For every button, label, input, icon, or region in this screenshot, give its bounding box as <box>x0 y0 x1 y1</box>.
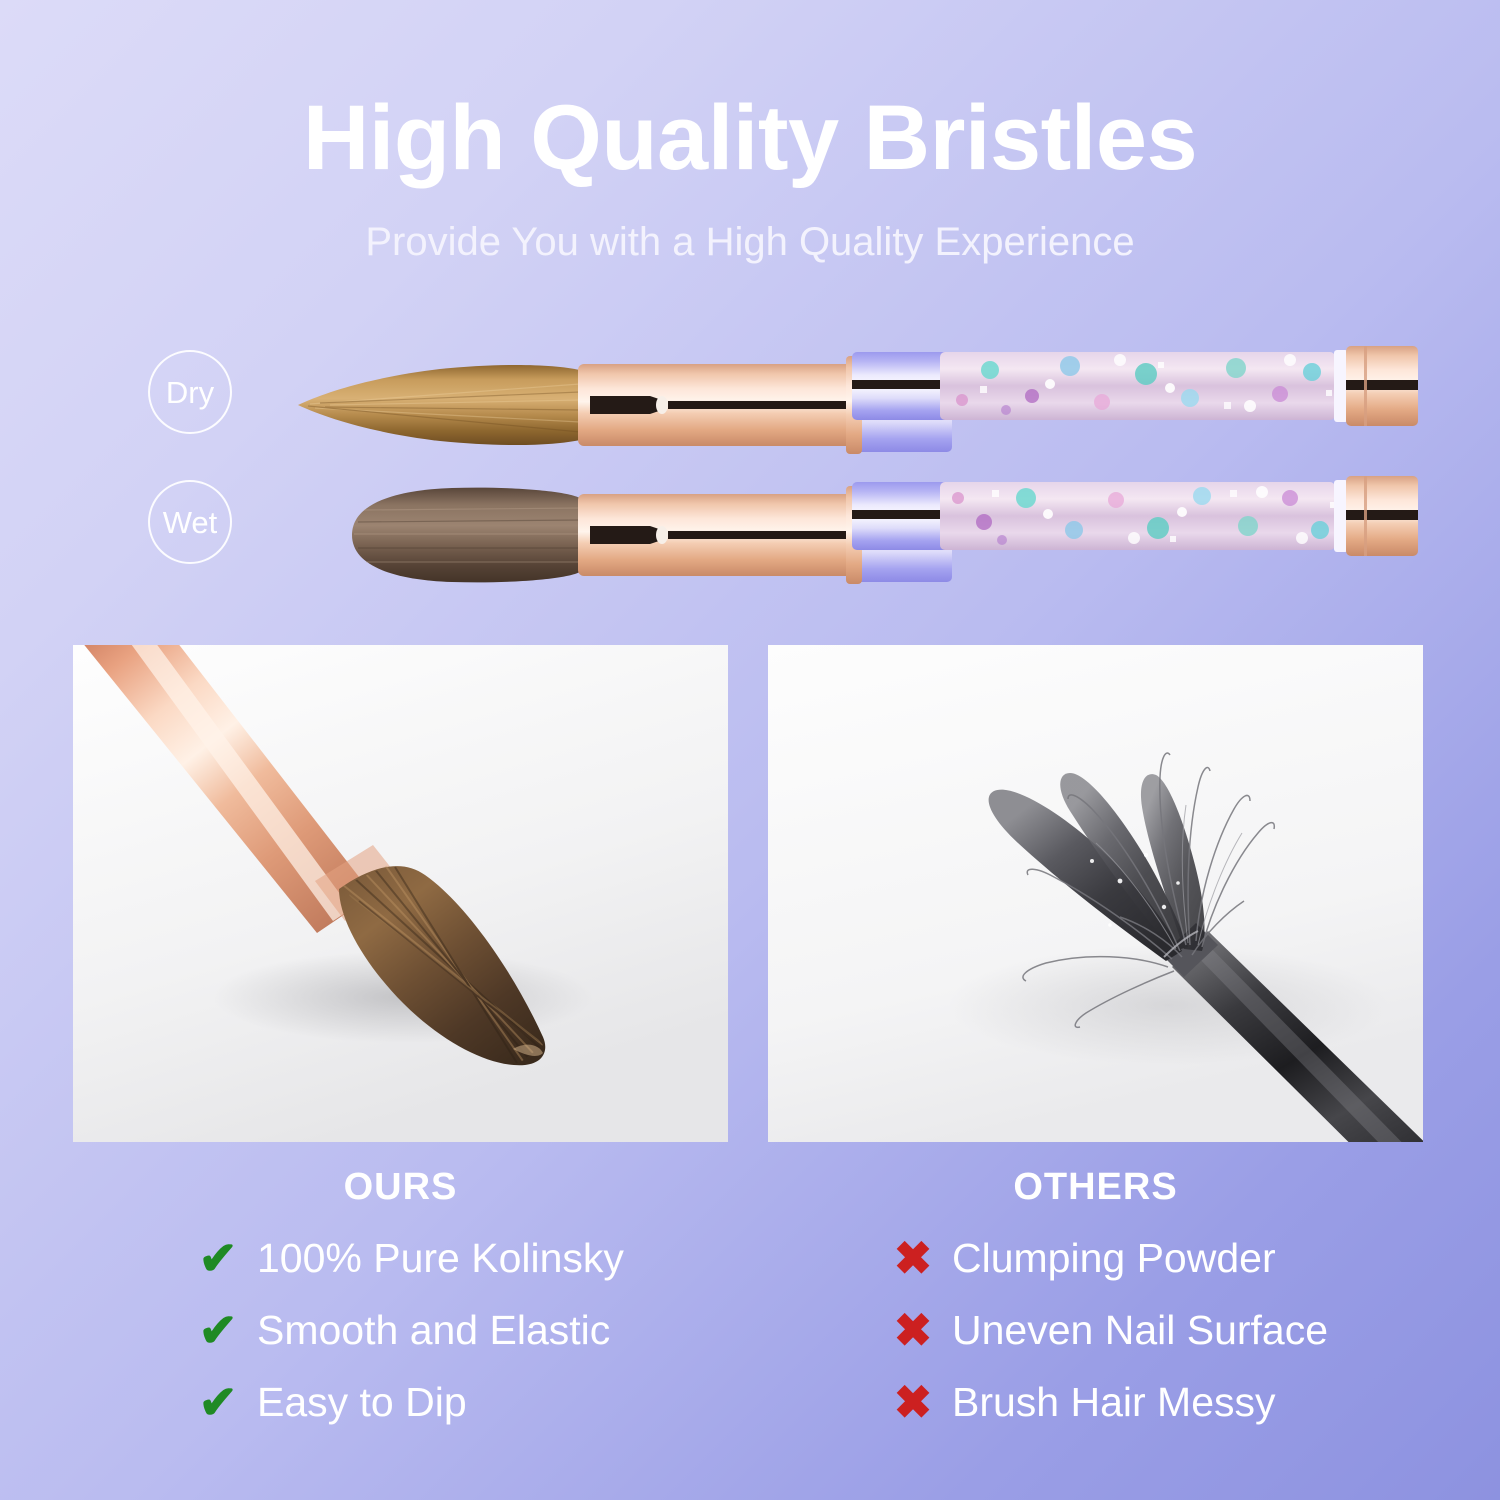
state-badge-wet: Wet <box>148 480 232 564</box>
photo-others-brush-closeup <box>768 645 1423 1142</box>
feature-label: Smooth and Elastic <box>245 1310 610 1351</box>
photo-ours-brush-closeup <box>73 645 728 1142</box>
ferrule-crimp-highlight-wet <box>656 526 668 544</box>
list-item: ✖ Uneven Nail Surface <box>768 1294 1423 1366</box>
check-icon: ✔ <box>191 1235 245 1281</box>
feature-label: Clumping Powder <box>940 1238 1276 1279</box>
ferrule-crimp-wet <box>590 526 662 544</box>
page-title: High Quality Bristles <box>0 92 1500 184</box>
bristle-tip-wet <box>352 488 582 583</box>
brush-illustration-dry: #12 <box>290 340 1420 470</box>
brush-row-dry: Dry <box>0 340 1500 470</box>
column-heading-ours: OURS <box>73 1168 728 1206</box>
header: High Quality Bristles Provide You with a… <box>0 92 1500 262</box>
feature-label: Brush Hair Messy <box>940 1382 1276 1423</box>
state-badge-wet-label: Wet <box>163 507 218 538</box>
feature-list-ours: ✔ 100% Pure Kolinsky ✔ Smooth and Elasti… <box>73 1222 728 1438</box>
glitter-barrel-dry <box>940 352 1335 420</box>
check-icon: ✔ <box>191 1379 245 1425</box>
ferrule-seam-wet <box>668 531 858 539</box>
feature-list-others: ✖ Clumping Powder ✖ Uneven Nail Surface … <box>768 1222 1423 1438</box>
endcap-ridge-dry <box>1364 346 1367 426</box>
endcap-seam-wet <box>1346 510 1418 520</box>
feature-label: 100% Pure Kolinsky <box>245 1238 624 1279</box>
endcap-seam-dry <box>1346 380 1418 390</box>
brush-illustration-wet: #12 <box>290 470 1420 600</box>
endcap-ridge-wet <box>1364 476 1367 556</box>
feature-label: Easy to Dip <box>245 1382 467 1423</box>
ferrule-seam-dry <box>668 401 858 409</box>
state-badge-dry: Dry <box>148 350 232 434</box>
endcap-gap-dry <box>1334 350 1348 422</box>
column-heading-others: OTHERS <box>768 1168 1423 1206</box>
cross-icon: ✖ <box>886 1307 940 1353</box>
list-item: ✔ 100% Pure Kolinsky <box>73 1222 728 1294</box>
product-infographic: High Quality Bristles Provide You with a… <box>0 0 1500 1500</box>
page-subtitle: Provide You with a High Quality Experien… <box>0 184 1500 262</box>
ferrule-crimp-highlight-dry <box>656 396 668 414</box>
list-item: ✖ Clumping Powder <box>768 1222 1423 1294</box>
cross-icon: ✖ <box>886 1379 940 1425</box>
brush-row-wet: Wet <box>0 470 1500 600</box>
list-item: ✔ Easy to Dip <box>73 1366 728 1438</box>
check-icon: ✔ <box>191 1307 245 1353</box>
list-item: ✔ Smooth and Elastic <box>73 1294 728 1366</box>
feature-label: Uneven Nail Surface <box>940 1310 1328 1351</box>
ferrule-crimp-dry <box>590 396 662 414</box>
state-badge-dry-label: Dry <box>166 377 214 408</box>
list-item: ✖ Brush Hair Messy <box>768 1366 1423 1438</box>
cross-icon: ✖ <box>886 1235 940 1281</box>
endcap-gap-wet <box>1334 480 1348 552</box>
